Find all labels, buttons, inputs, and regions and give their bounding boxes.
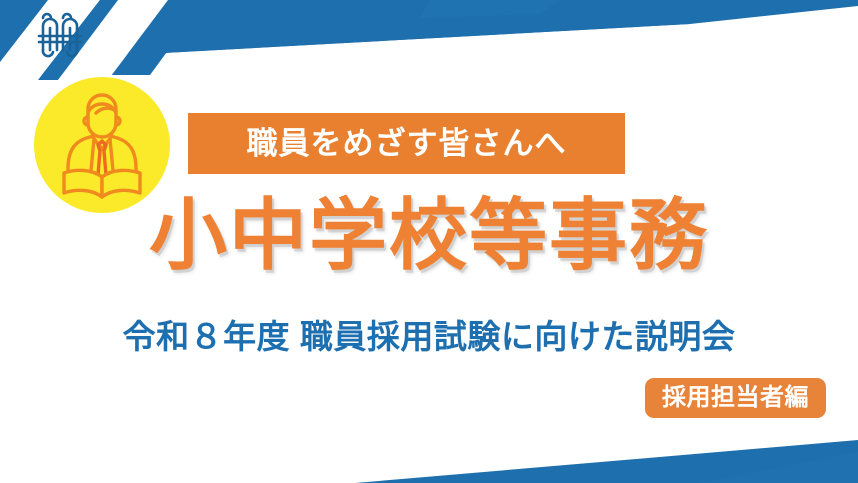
subtitle-text: 令和８年度 職員採用試験に向けた説明会: [123, 320, 736, 353]
ribbon-label: 職員をめざす皆さんへ: [247, 128, 567, 159]
blue-diagonal-band-top-body: [0, 0, 700, 62]
blue-diagonal-wedge-bottom-right: [355, 440, 858, 483]
status-badge-label: 採用担当者編: [662, 386, 809, 410]
status-badge: 採用担当者編: [645, 378, 826, 418]
page-title: 小中学校等事務: [0, 196, 858, 274]
blue-wedge-texture: [700, 452, 858, 483]
organization-emblem-icon: [31, 6, 89, 58]
blue-diagonal-band-top: [0, 0, 858, 62]
blue-band-texture: [420, 0, 560, 18]
ribbon-banner: 職員をめざす皆さんへ: [188, 113, 625, 174]
subtitle: 令和８年度 職員採用試験に向けた説明会: [0, 320, 858, 353]
page-title-text: 小中学校等事務: [149, 196, 709, 274]
presentation-slide: 職員をめざす皆さんへ 小中学校等事務 令和８年度 職員採用試験に向けた説明会 採…: [0, 0, 858, 483]
